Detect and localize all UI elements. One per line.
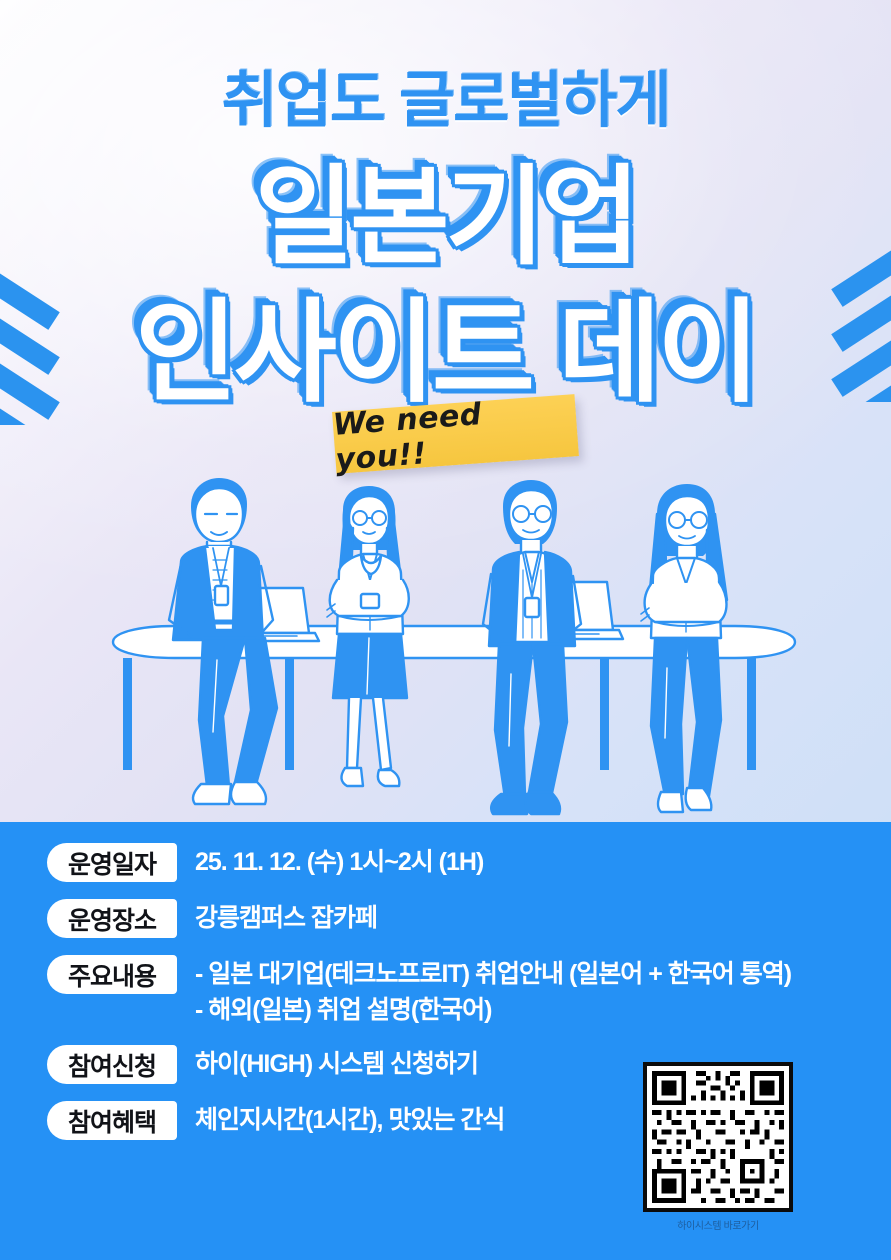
people-illustration [95,470,805,825]
info-value-apply: 하이(HIGH) 시스템 신청하기 [195,1045,478,1082]
qr-code-frame[interactable] [643,1062,793,1212]
info-row-main-content: 주요내용 - 일본 대기업(테크노프로IT) 취업안내 (일본어 + 한국어 통… [47,955,847,1028]
info-row-operation-place: 운영장소 강릉캠퍼스 잡카페 [47,899,847,938]
sticky-note-label: We need you!! [332,394,579,474]
info-value-main-content: - 일본 대기업(테크노프로IT) 취업안내 (일본어 + 한국어 통역) - … [195,955,791,1028]
qr-code-block[interactable]: 하이시스템 바로가기 [643,1062,793,1232]
info-value-benefit: 체인지시간(1시간), 맛있는 간식 [195,1101,504,1138]
qr-code-caption: 하이시스템 바로가기 [643,1217,793,1232]
info-label-main-content: 주요내용 [47,955,177,994]
info-value-main-content-line2: - 해외(일본) 취업 설명(한국어) [195,992,791,1028]
info-label-operation-place: 운영장소 [47,899,177,938]
sticky-note-badge: We need you!! [332,394,579,474]
info-label-operation-date: 운영일자 [47,843,177,882]
poster-root: 취업도 글로벌하게 일본기업 인사이트 데이 We need you!! [0,0,891,1260]
info-value-main-content-line1: - 일본 대기업(테크노프로IT) 취업안내 (일본어 + 한국어 통역) [195,960,791,988]
info-label-apply: 참여신청 [47,1045,177,1084]
qr-code-image[interactable] [647,1066,789,1208]
kicker-heading: 취업도 글로벌하게 [0,50,891,139]
info-row-operation-date: 운영일자 25. 11. 12. (수) 1시~2시 (1H) [47,843,847,882]
info-value-operation-place: 강릉캠퍼스 잡카페 [195,899,377,936]
info-value-operation-date: 25. 11. 12. (수) 1시~2시 (1H) [195,843,483,880]
info-label-benefit: 참여혜택 [47,1101,177,1140]
